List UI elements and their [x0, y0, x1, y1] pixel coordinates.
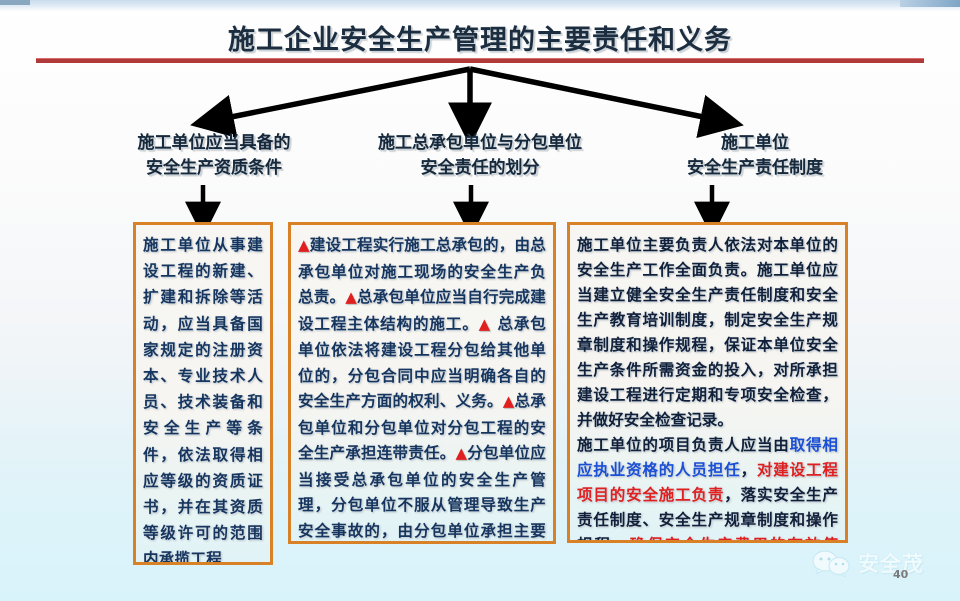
- box-subcontract-responsibility-text: ▲建设工程实行施工总承包的，由总承包单位对施工现场的安全生产负总责。▲总承包单位…: [298, 232, 546, 544]
- watermark-label: 安全茂: [858, 548, 924, 578]
- heading-right: 施工单位 安全生产责任制度: [630, 131, 880, 181]
- page-number: 40: [893, 568, 908, 581]
- text-segment: ▲: [345, 288, 357, 306]
- box-safety-responsibility-system: 施工单位主要负责人依法对本单位的安全生产工作全面负责。施工单位应当建立健全安全生…: [567, 222, 848, 543]
- box-qualification: 施工单位从事建设工程的新建、扩建和拆除等活动，应当具备国家规定的注册资本、专业技…: [133, 222, 273, 565]
- slide-canvas: 施工企业安全生产管理的主要责任和义务 施工单位应当具备的 安全生产资质条件 施工…: [0, 0, 960, 601]
- box-qualification-text: 施工单位从事建设工程的新建、扩建和拆除等活动，应当具备国家规定的注册资本、专业技…: [143, 232, 263, 565]
- text-segment: ▲: [455, 444, 467, 462]
- box-safety-responsibility-system-text: 施工单位主要负责人依法对本单位的安全生产工作全面负责。施工单位应当建立健全安全生…: [577, 232, 838, 543]
- text-segment: 施工单位主要负责人依法对本单位的安全生产工作全面负责。施工单位应当建立健全安全生…: [577, 235, 838, 429]
- text-segment: ，: [741, 460, 757, 479]
- text-segment: ▲: [479, 315, 491, 333]
- top-decor-bar-left-cap: [0, 0, 30, 5]
- heading-left: 施工单位应当具备的 安全生产资质条件: [104, 131, 324, 181]
- page-title: 施工企业安全生产管理的主要责任和义务: [0, 18, 960, 57]
- text-segment: ▲: [503, 392, 515, 410]
- text-segment: 施工单位的项目负责人应当由: [577, 435, 790, 454]
- heading-center: 施工总承包单位与分包单位 安全责任的划分: [345, 131, 615, 181]
- title-underline-rule: [36, 58, 924, 63]
- text-segment: ▲: [298, 236, 310, 254]
- text-segment: 施工单位从事建设工程的新建、扩建和拆除等活动，应当具备国家规定的注册资本、专业技…: [143, 235, 263, 565]
- box-subcontract-responsibility: ▲建设工程实行施工总承包的，由总承包单位对施工现场的安全生产负总责。▲总承包单位…: [288, 222, 556, 544]
- top-decor-bar-right-cap: [900, 0, 960, 7]
- top-decor-bar: [0, 0, 960, 12]
- wechat-icon: [812, 549, 852, 577]
